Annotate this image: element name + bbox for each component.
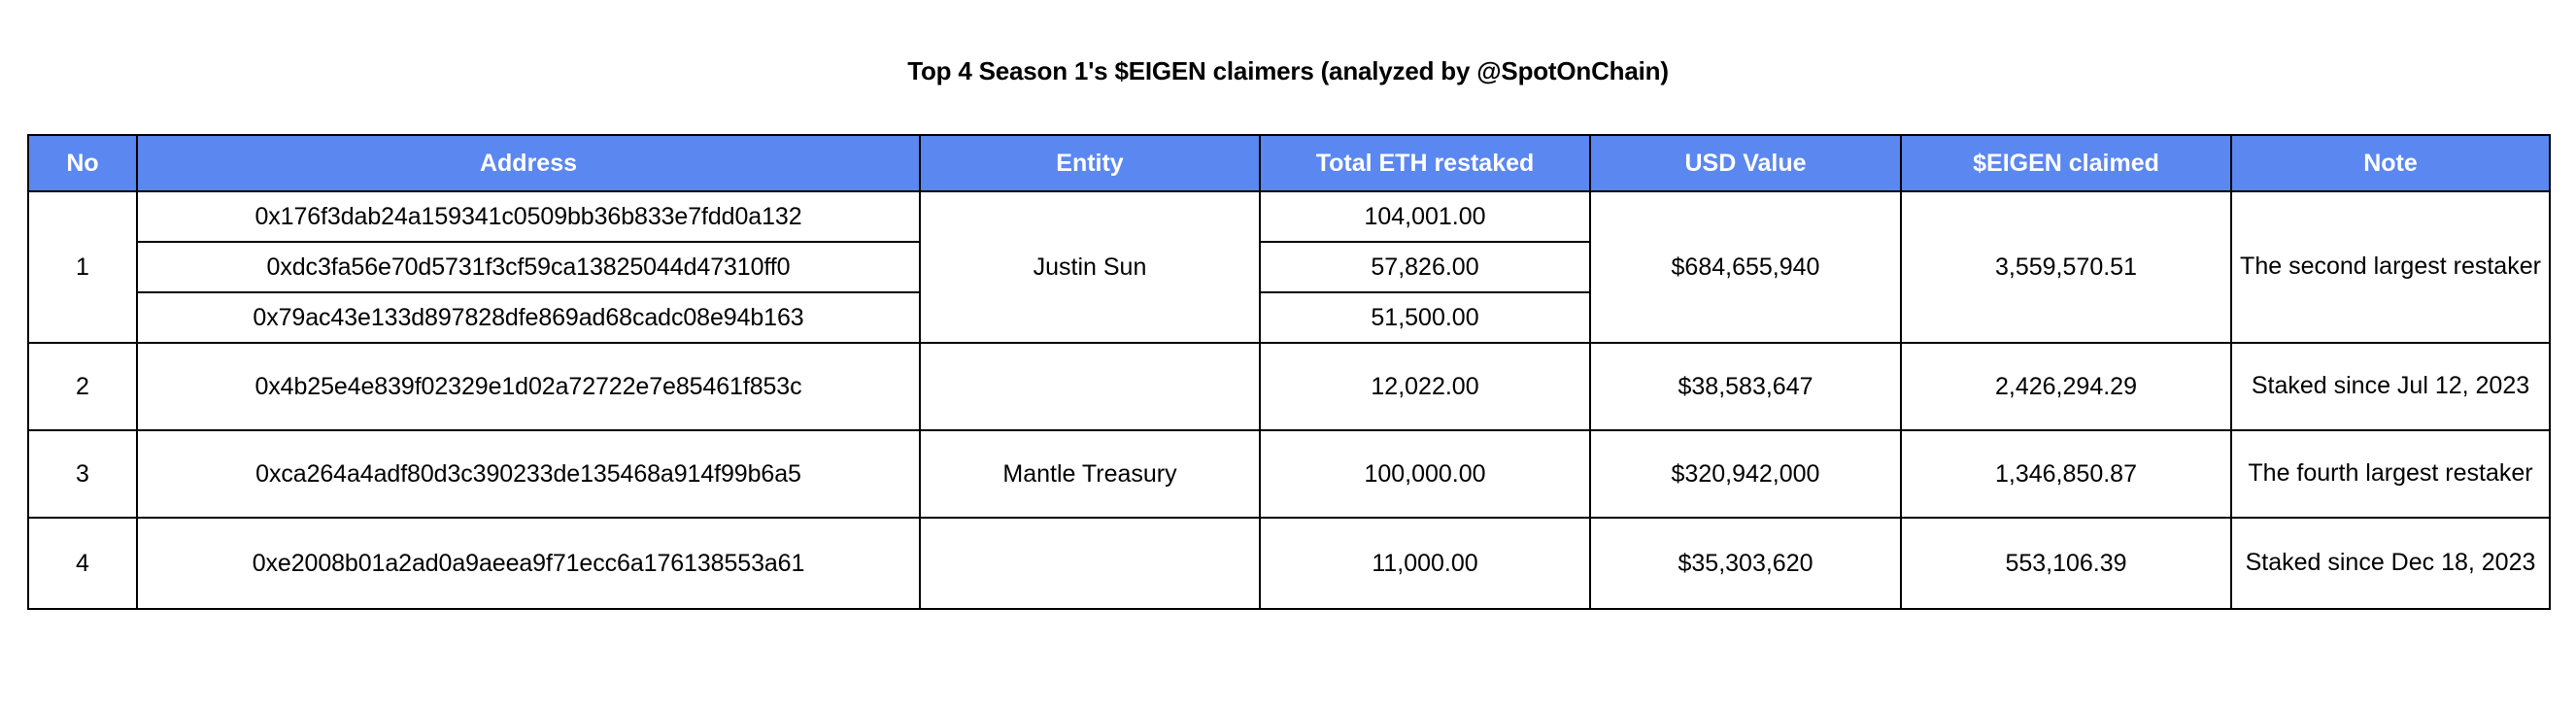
cell-note: The fourth largest restaker bbox=[2231, 430, 2550, 518]
cell-eigen-claimed: 2,426,294.29 bbox=[1901, 343, 2231, 430]
cell-entity bbox=[920, 343, 1260, 430]
column-header-address: Address bbox=[137, 135, 920, 191]
note-text: The second largest restaker bbox=[2238, 252, 2543, 282]
cell-total-eth-restaked: 12,022.00 bbox=[1260, 343, 1590, 430]
cell-note: Staked since Jul 12, 2023 bbox=[2231, 343, 2550, 430]
table-header: No Address Entity Total ETH restaked USD… bbox=[28, 135, 2550, 191]
cell-entity: Justin Sun bbox=[920, 191, 1260, 343]
cell-eigen-claimed: 1,346,850.87 bbox=[1901, 430, 2231, 518]
cell-eigen-claimed: 553,106.39 bbox=[1901, 518, 2231, 609]
table-row: 4 0xe2008b01a2ad0a9aeea9f71ecc6a17613855… bbox=[28, 518, 2550, 609]
cell-total-eth-restaked: 11,000.00 bbox=[1260, 518, 1590, 609]
cell-address: 0xe2008b01a2ad0a9aeea9f71ecc6a176138553a… bbox=[137, 518, 920, 609]
cell-total-eth-restaked: 104,001.00 bbox=[1260, 191, 1590, 242]
column-header-eigen-claimed: $EIGEN claimed bbox=[1901, 135, 2231, 191]
table-row: 2 0x4b25e4e839f02329e1d02a72722e7e85461f… bbox=[28, 343, 2550, 430]
note-text: The fourth largest restaker bbox=[2238, 458, 2543, 489]
cell-total-eth-restaked: 100,000.00 bbox=[1260, 430, 1590, 518]
table-header-row: No Address Entity Total ETH restaked USD… bbox=[28, 135, 2550, 191]
cell-no: 4 bbox=[28, 518, 137, 609]
note-text: Staked since Dec 18, 2023 bbox=[2238, 548, 2543, 578]
table-row: 1 0x176f3dab24a159341c0509bb36b833e7fdd0… bbox=[28, 191, 2550, 242]
cell-address: 0x4b25e4e839f02329e1d02a72722e7e85461f85… bbox=[137, 343, 920, 430]
cell-note: Staked since Dec 18, 2023 bbox=[2231, 518, 2550, 609]
cell-total-eth-restaked: 51,500.00 bbox=[1260, 292, 1590, 343]
cell-usd-value: $35,303,620 bbox=[1590, 518, 1901, 609]
cell-usd-value: $684,655,940 bbox=[1590, 191, 1901, 343]
cell-note: The second largest restaker bbox=[2231, 191, 2550, 343]
cell-address: 0x176f3dab24a159341c0509bb36b833e7fdd0a1… bbox=[137, 191, 920, 242]
cell-address: 0xdc3fa56e70d5731f3cf59ca13825044d47310f… bbox=[137, 242, 920, 292]
cell-entity: Mantle Treasury bbox=[920, 430, 1260, 518]
column-header-no: No bbox=[28, 135, 137, 191]
column-header-usd-value: USD Value bbox=[1590, 135, 1901, 191]
cell-entity bbox=[920, 518, 1260, 609]
table-container: No Address Entity Total ETH restaked USD… bbox=[27, 134, 2549, 610]
cell-no: 2 bbox=[28, 343, 137, 430]
cell-eigen-claimed: 3,559,570.51 bbox=[1901, 191, 2231, 343]
column-header-entity: Entity bbox=[920, 135, 1260, 191]
note-text: Staked since Jul 12, 2023 bbox=[2238, 371, 2543, 401]
table-body: 1 0x176f3dab24a159341c0509bb36b833e7fdd0… bbox=[28, 191, 2550, 609]
table-page: Top 4 Season 1's $EIGEN claimers (analyz… bbox=[0, 0, 2576, 709]
cell-usd-value: $320,942,000 bbox=[1590, 430, 1901, 518]
cell-no: 1 bbox=[28, 191, 137, 343]
eigen-claimers-table: No Address Entity Total ETH restaked USD… bbox=[27, 134, 2551, 610]
page-title: Top 4 Season 1's $EIGEN claimers (analyz… bbox=[0, 56, 2576, 86]
cell-usd-value: $38,583,647 bbox=[1590, 343, 1901, 430]
cell-address: 0xca264a4adf80d3c390233de135468a914f99b6… bbox=[137, 430, 920, 518]
column-header-total-eth-restaked: Total ETH restaked bbox=[1260, 135, 1590, 191]
cell-total-eth-restaked: 57,826.00 bbox=[1260, 242, 1590, 292]
table-row: 3 0xca264a4adf80d3c390233de135468a914f99… bbox=[28, 430, 2550, 518]
cell-address: 0x79ac43e133d897828dfe869ad68cadc08e94b1… bbox=[137, 292, 920, 343]
column-header-note: Note bbox=[2231, 135, 2550, 191]
cell-no: 3 bbox=[28, 430, 137, 518]
